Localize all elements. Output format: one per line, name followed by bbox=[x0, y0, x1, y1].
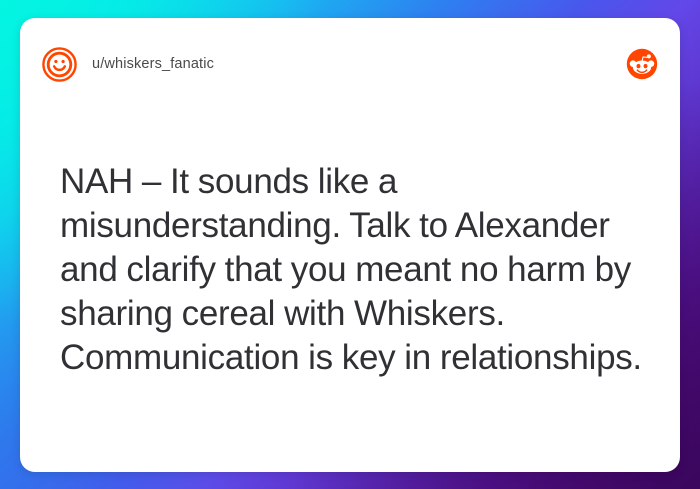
gradient-background: u/whiskers_fanatic bbox=[0, 0, 700, 489]
card-header: u/whiskers_fanatic bbox=[20, 18, 680, 110]
reddit-comment-card: u/whiskers_fanatic bbox=[20, 18, 680, 472]
smiley-face-avatar-icon bbox=[41, 46, 78, 83]
comment-text: NAH – It sounds like a misunderstanding.… bbox=[60, 160, 662, 380]
card-body: NAH – It sounds like a misunderstanding.… bbox=[60, 160, 680, 380]
reddit-snoo-logo-icon bbox=[626, 48, 658, 80]
username-label: u/whiskers_fanatic bbox=[92, 56, 214, 72]
